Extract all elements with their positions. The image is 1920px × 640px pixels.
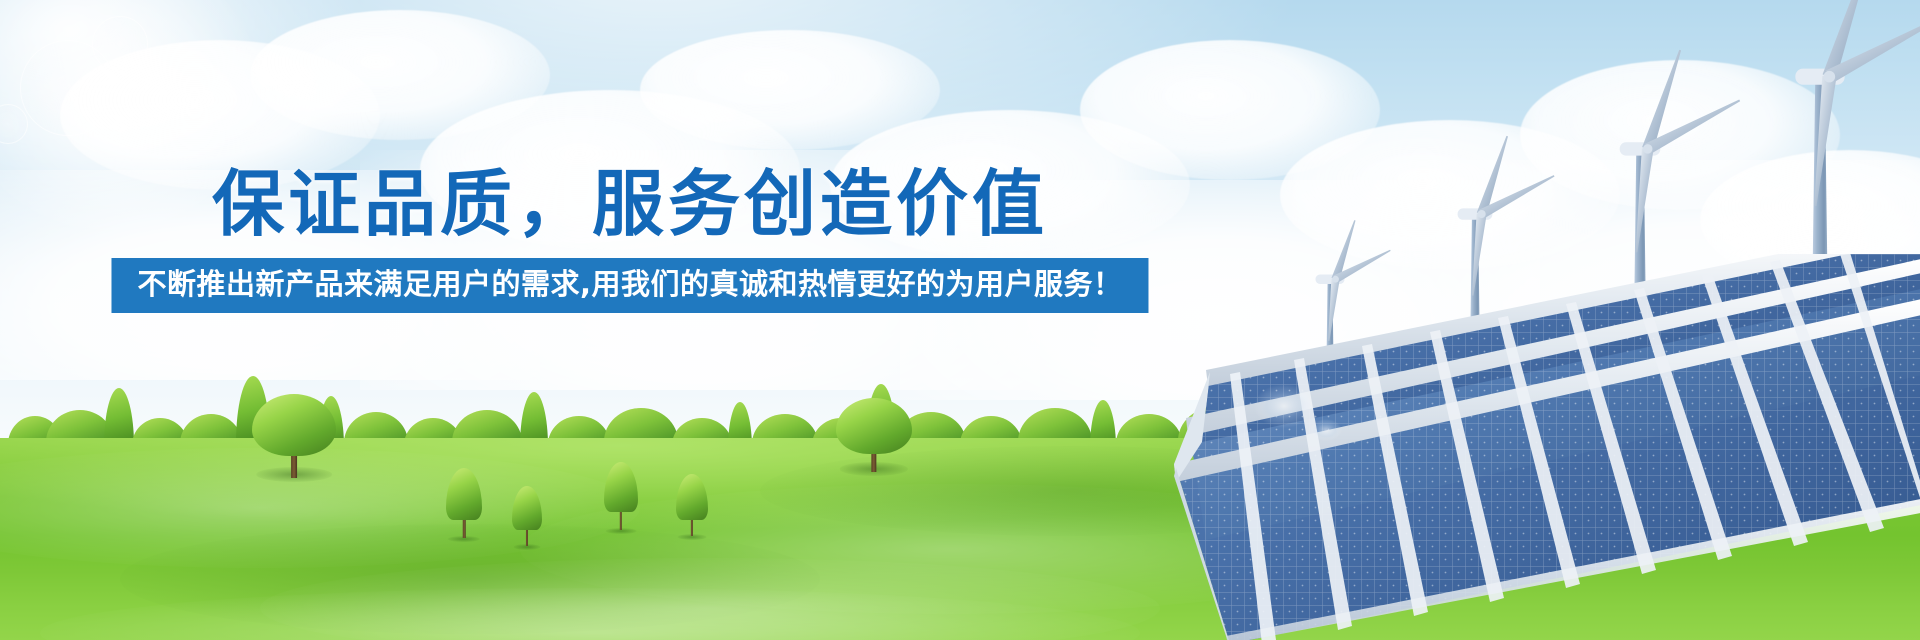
turbine-hub bbox=[1824, 71, 1836, 83]
field-sapling-2 bbox=[512, 486, 542, 546]
tree-trunk bbox=[291, 456, 297, 478]
turbine-hub bbox=[1643, 144, 1653, 154]
tree-trunk bbox=[691, 520, 693, 536]
field-sapling-1 bbox=[446, 468, 482, 538]
tree-crown bbox=[512, 486, 542, 530]
hero-banner: 保证品质，服务创造价值 不断推出新产品来满足用户的需求,用我们的真诚和热情更好的… bbox=[0, 0, 1920, 640]
tree-crown bbox=[252, 394, 336, 456]
field-sapling-3 bbox=[604, 462, 638, 530]
tree-crown bbox=[604, 462, 638, 512]
tree-trunk bbox=[871, 454, 876, 472]
field-sapling-4 bbox=[676, 474, 708, 536]
field-bush-right bbox=[836, 398, 912, 472]
turbine-hub bbox=[1478, 210, 1486, 218]
tree-crown bbox=[446, 468, 482, 520]
tree-trunk bbox=[526, 530, 528, 546]
tree-crown bbox=[836, 398, 912, 454]
banner-subtitle: 不断推出新产品来满足用户的需求,用我们的真诚和热情更好的为用户服务！ bbox=[137, 268, 1122, 301]
solar-panel-array bbox=[1166, 254, 1920, 640]
tree-crown bbox=[676, 474, 708, 520]
tree-trunk bbox=[620, 512, 622, 530]
field-tree-large bbox=[252, 394, 336, 478]
solar-array-svg bbox=[1166, 254, 1920, 640]
banner-subtitle-bar: 不断推出新产品来满足用户的需求,用我们的真诚和热情更好的为用户服务！ bbox=[111, 258, 1148, 313]
banner-headline: 保证品质，服务创造价值 bbox=[0, 168, 1260, 240]
tree-trunk bbox=[463, 520, 466, 538]
